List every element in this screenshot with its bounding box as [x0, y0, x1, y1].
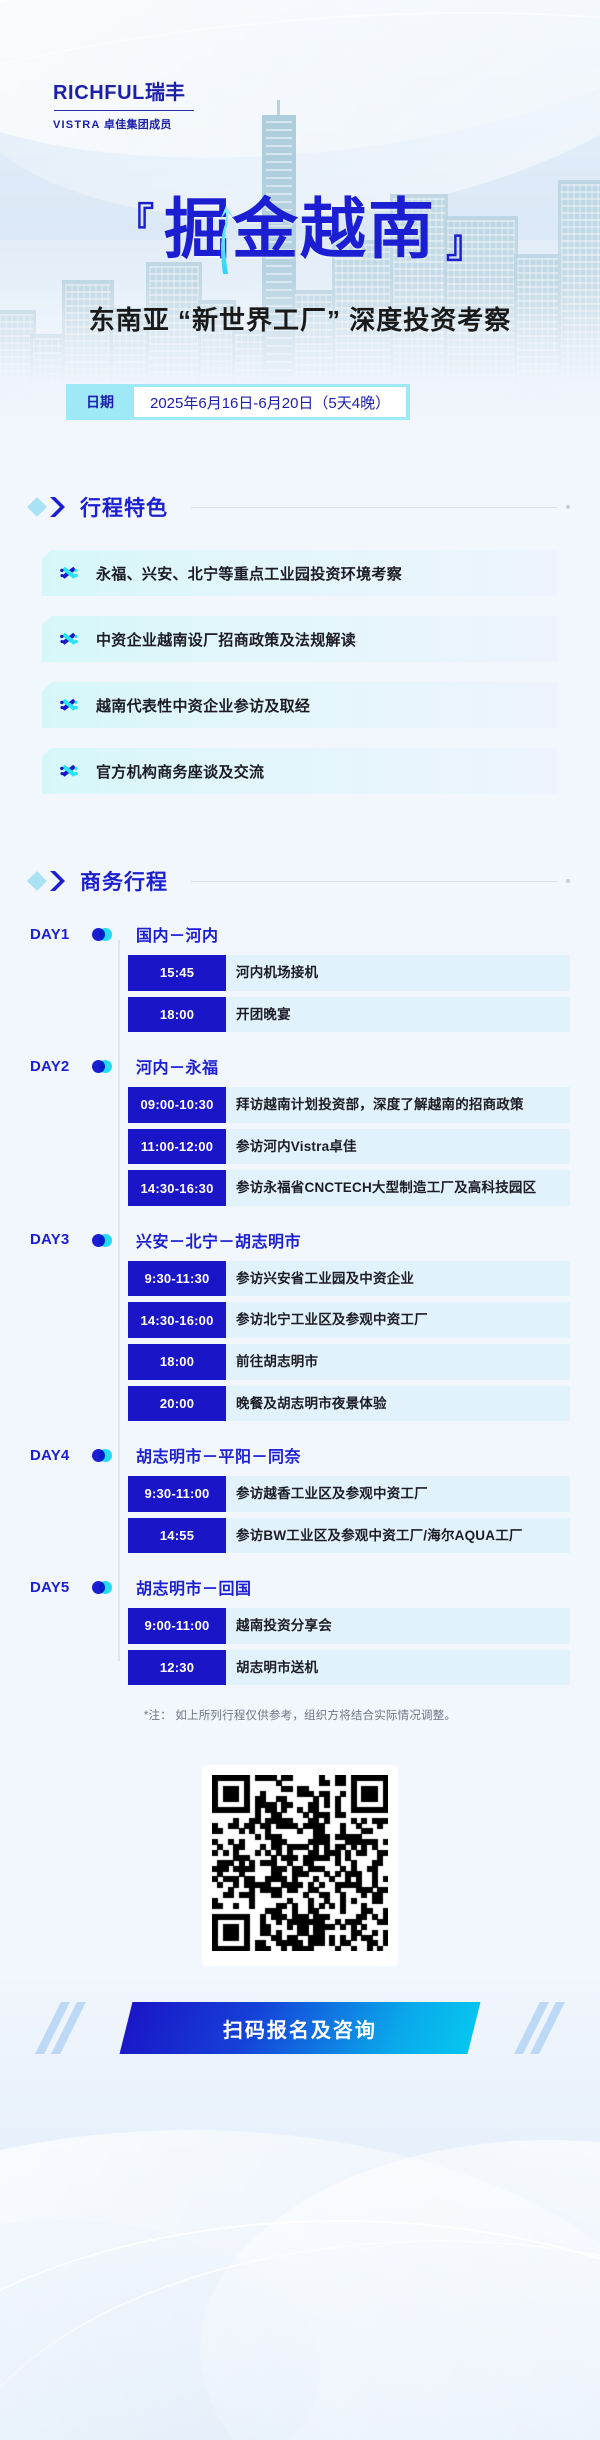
day-rows: 15:45河内机场接机18:00开团晚宴: [128, 955, 570, 1032]
itinerary-time: 9:30-11:00: [128, 1476, 226, 1512]
logo-secondary-text: VISTRA 卓佳集团成员: [53, 116, 194, 132]
qr-code[interactable]: [212, 1775, 388, 1951]
itinerary-time: 15:45: [128, 955, 226, 991]
itinerary-row: 18:00前往胡志明市: [128, 1344, 570, 1380]
itinerary-note: *注： 如上所列行程仅供参考，组织方将结合实际情况调整。: [0, 1707, 600, 1723]
itinerary-time: 11:00-12:00: [128, 1129, 226, 1165]
chevron-right-icon: [49, 871, 67, 891]
feature-label: 官方机构商务座谈及交流: [96, 761, 264, 782]
section-rule: [191, 881, 557, 882]
sparkle-cross-icon: [58, 760, 80, 782]
itinerary-description: 胡志明市送机: [226, 1650, 570, 1686]
day-rows: 9:30-11:00参访越香工业区及参观中资工厂14:55参访BW工业区及参观中…: [128, 1476, 570, 1553]
day-number: DAY3: [30, 1231, 88, 1248]
itinerary-time: 14:30-16:30: [128, 1170, 226, 1206]
itinerary-row: 09:00-10:30拜访越南计划投资部，深度了解越南的招商政策: [128, 1087, 570, 1123]
day-header: DAY5胡志明市－回国: [30, 1575, 570, 1599]
day-route: 兴安－北宁－胡志明市: [136, 1228, 301, 1252]
itinerary-row: 11:00-12:00参访河内Vistra卓佳: [128, 1129, 570, 1165]
footer-content: 扫码报名及咨询: [0, 1765, 600, 2054]
section-rule-dot: [566, 505, 570, 509]
itinerary-row: 14:55参访BW工业区及参观中资工厂/海尔AQUA工厂: [128, 1518, 570, 1554]
feature-card: 越南代表性中资企业参访及取经: [42, 682, 558, 728]
page-title: 掘金越南: [164, 196, 436, 262]
logo-en: RICHFUL: [53, 82, 145, 104]
day-number: DAY2: [30, 1058, 88, 1075]
feature-card: 永福、兴安、北宁等重点工业园投资环境考察: [42, 550, 558, 596]
day-header: DAY4胡志明市－平阳－同奈: [30, 1443, 570, 1467]
page-subtitle: 东南亚 “新世界工厂” 深度投资考察: [0, 300, 600, 337]
day-rows: 9:00-11:00越南投资分享会12:30胡志明市送机: [128, 1608, 570, 1685]
itinerary-description: 参访永福省CNCTECH大型制造工厂及高科技园区: [226, 1170, 570, 1206]
day-block: DAY4胡志明市－平阳－同奈9:30-11:00参访越香工业区及参观中资工厂14…: [30, 1443, 570, 1553]
feature-label: 永福、兴安、北宁等重点工业园投资环境考察: [96, 563, 402, 584]
feature-card: 官方机构商务座谈及交流: [42, 748, 558, 794]
itinerary-time: 18:00: [128, 1344, 226, 1380]
day-block: DAY3兴安－北宁－胡志明市9:30-11:30参访兴安省工业园及中资企业14:…: [30, 1228, 570, 1421]
features-list: 永福、兴安、北宁等重点工业园投资环境考察中资企业越南设厂招商政策及法规解读越南代…: [0, 550, 600, 794]
arrow-up-icon: [216, 206, 236, 274]
cta-section: 扫码报名及咨询: [0, 2002, 600, 2054]
itinerary-time: 14:55: [128, 1518, 226, 1554]
logo-vistra: VISTRA: [53, 119, 101, 131]
brand-logo: RICHFUL瑞丰 VISTRA 卓佳集团成员: [53, 76, 194, 132]
day-block: DAY5胡志明市－回国9:00-11:00越南投资分享会12:30胡志明市送机: [30, 1575, 570, 1685]
signup-button-label: 扫码报名及咨询: [223, 2014, 377, 2043]
logo-cn: 瑞丰: [145, 82, 185, 104]
section-rule: [191, 507, 557, 508]
day-route: 河内－永福: [136, 1054, 219, 1078]
feature-card: 中资企业越南设厂招商政策及法规解读: [42, 616, 558, 662]
section-title-features: 行程特色: [80, 492, 168, 522]
date-label: 日期: [66, 392, 134, 412]
itinerary-row: 14:30-16:30参访永福省CNCTECH大型制造工厂及高科技园区: [128, 1170, 570, 1206]
day-header: DAY2河内－永福: [30, 1054, 570, 1078]
day-rows: 9:30-11:30参访兴安省工业园及中资企业14:30-16:00参访北宁工业…: [128, 1261, 570, 1421]
itinerary-description: 参访河内Vistra卓佳: [226, 1129, 570, 1165]
day-header: DAY1国内－河内: [30, 922, 570, 946]
date-value: 2025年6月16日-6月20日（5天4晚）: [134, 387, 406, 417]
day-number: DAY1: [30, 926, 88, 943]
itinerary-time: 09:00-10:30: [128, 1087, 226, 1123]
day-block: DAY2河内－永福09:00-10:30拜访越南计划投资部，深度了解越南的招商政…: [30, 1054, 570, 1206]
poster-page: RICHFUL瑞丰 VISTRA 卓佳集团成员 『 掘金越南: [0, 0, 600, 2440]
day-blocks: DAY1国内－河内15:45河内机场接机18:00开团晚宴DAY2河内－永福09…: [30, 922, 570, 1685]
itinerary-description: 越南投资分享会: [226, 1608, 570, 1644]
day-block: DAY1国内－河内15:45河内机场接机18:00开团晚宴: [30, 922, 570, 1032]
itinerary-description: 参访BW工业区及参观中资工厂/海尔AQUA工厂: [226, 1518, 570, 1554]
itinerary-description: 前往胡志明市: [226, 1344, 570, 1380]
itinerary-time: 9:00-11:00: [128, 1608, 226, 1644]
bracket-right: 』: [446, 226, 484, 264]
day-route: 胡志明市－回国: [136, 1575, 252, 1599]
itinerary-time: 18:00: [128, 997, 226, 1033]
section-title-itinerary: 商务行程: [80, 866, 168, 896]
day-header: DAY3兴安－北宁－胡志明市: [30, 1228, 570, 1252]
itinerary-description: 拜访越南计划投资部，深度了解越南的招商政策: [226, 1087, 570, 1123]
itinerary-description: 河内机场接机: [226, 955, 570, 991]
poster-body: 行程特色 永福、兴安、北宁等重点工业园投资环境考察中资企业越南设厂招商政策及法规…: [0, 430, 600, 1723]
day-rows: 09:00-10:30拜访越南计划投资部，深度了解越南的招商政策11:00-12…: [128, 1087, 570, 1206]
day-number: DAY4: [30, 1447, 88, 1464]
day-number: DAY5: [30, 1579, 88, 1596]
diamond-icon: [27, 497, 47, 517]
feature-label: 中资企业越南设厂招商政策及法规解读: [96, 629, 356, 650]
itinerary-description: 参访越香工业区及参观中资工厂: [226, 1476, 570, 1512]
itinerary-time: 20:00: [128, 1386, 226, 1422]
itinerary-row: 15:45河内机场接机: [128, 955, 570, 991]
section-header-features: 行程特色: [0, 492, 600, 522]
qr-section: [0, 1765, 600, 1966]
itinerary-row: 9:00-11:00越南投资分享会: [128, 1608, 570, 1644]
chevron-right-icon: [49, 497, 67, 517]
qr-card: [202, 1765, 398, 1966]
logo-primary-text: RICHFUL瑞丰: [53, 76, 194, 105]
sparkle-cross-icon: [58, 562, 80, 584]
itinerary-row: 20:00晚餐及胡志明市夜景体验: [128, 1386, 570, 1422]
logo-vistra-cn: 卓佳集团成员: [104, 119, 172, 131]
signup-button[interactable]: 扫码报名及咨询: [120, 2002, 481, 2054]
day-route: 国内－河内: [136, 922, 219, 946]
sparkle-cross-icon: [58, 694, 80, 716]
itinerary-row: 18:00开团晚宴: [128, 997, 570, 1033]
itinerary-description: 晚餐及胡志明市夜景体验: [226, 1386, 570, 1422]
bracket-left: 『: [116, 204, 154, 242]
itinerary-time: 14:30-16:00: [128, 1302, 226, 1338]
itinerary-row: 9:30-11:00参访越香工业区及参观中资工厂: [128, 1476, 570, 1512]
hero-title-row: 『 掘金越南 』: [0, 196, 600, 262]
diamond-icon: [27, 871, 47, 891]
itinerary-description: 参访兴安省工业园及中资企业: [226, 1261, 570, 1297]
date-banner: 日期 2025年6月16日-6月20日（5天4晚）: [66, 384, 410, 420]
hero-banner: RICHFUL瑞丰 VISTRA 卓佳集团成员 『 掘金越南: [0, 0, 600, 430]
itinerary-row: 9:30-11:30参访兴安省工业园及中资企业: [128, 1261, 570, 1297]
itinerary-description: 开团晚宴: [226, 997, 570, 1033]
page-title-text: 掘金越南: [164, 192, 436, 266]
itinerary-time: 9:30-11:30: [128, 1261, 226, 1297]
sparkle-cross-icon: [58, 628, 80, 650]
feature-label: 越南代表性中资企业参访及取经: [96, 695, 310, 716]
day-route: 胡志明市－平阳－同奈: [136, 1443, 301, 1467]
itinerary-row: 14:30-16:00参访北宁工业区及参观中资工厂: [128, 1302, 570, 1338]
section-header-itinerary: 商务行程: [0, 866, 600, 896]
itinerary-description: 参访北宁工业区及参观中资工厂: [226, 1302, 570, 1338]
logo-divider: [54, 110, 194, 111]
itinerary-timeline: DAY1国内－河内15:45河内机场接机18:00开团晚宴DAY2河内－永福09…: [0, 922, 600, 1685]
itinerary-time: 12:30: [128, 1650, 226, 1686]
itinerary-row: 12:30胡志明市送机: [128, 1650, 570, 1686]
section-rule-dot: [566, 879, 570, 883]
